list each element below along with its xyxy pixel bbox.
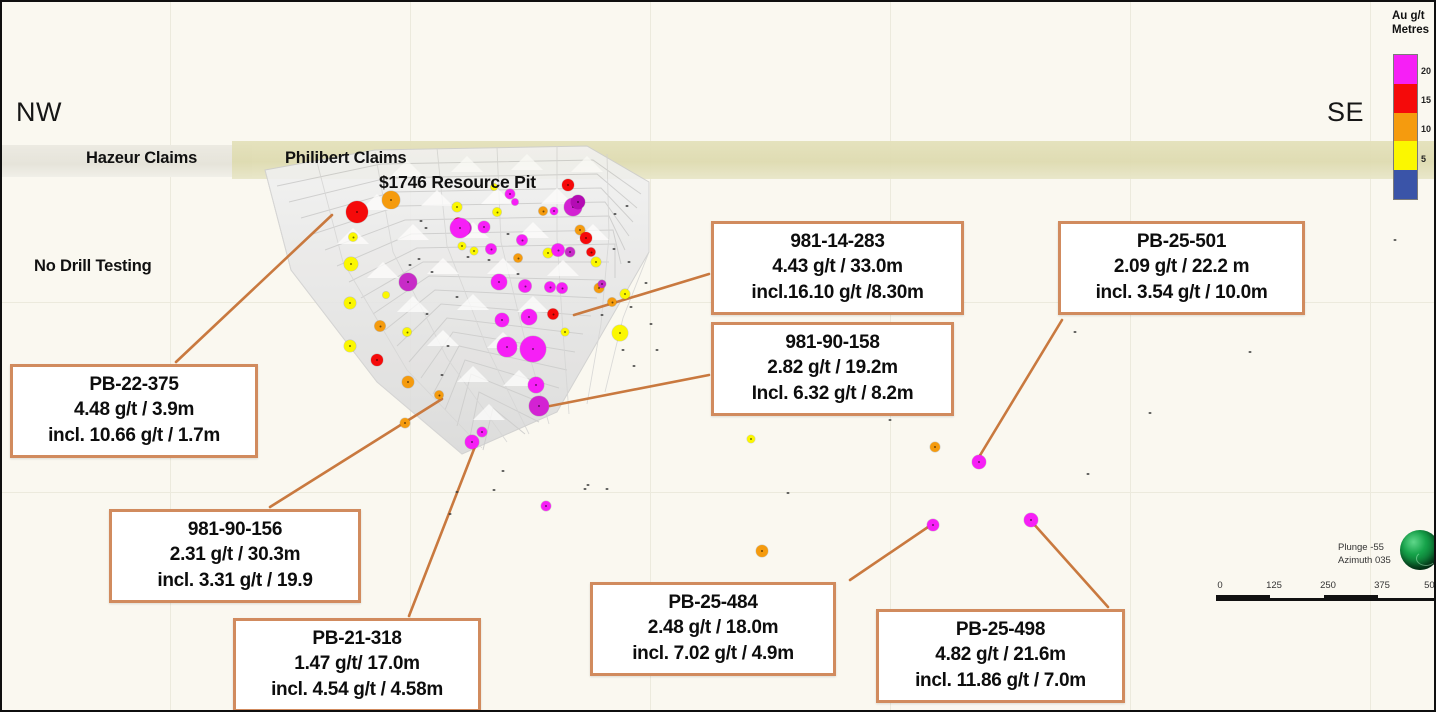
drill-intercept-dot [493,208,502,217]
legend-tick-20: 20 [1421,66,1431,76]
drill-intercept-dot [403,328,412,337]
label-hazeur-claims: Hazeur Claims [86,149,197,168]
callout-hole-id: PB-21-318 [248,626,466,651]
legend-tick-10: 10 [1421,124,1431,134]
structure-speck [426,313,429,315]
scale-label-375: 375 [1374,580,1390,591]
direction-label-nw: NW [16,97,62,128]
drill-intercept-dot [344,297,356,309]
callout-interval: 4.48 g/t / 3.9m [25,397,243,422]
drill-intercept-dot [565,247,575,257]
drill-intercept-dot [477,427,487,437]
structure-speck [606,488,609,490]
callout-hole-id: 981-90-158 [726,330,939,355]
structure-speck [613,248,616,250]
structure-speck [622,349,625,351]
legend-tick-15: 15 [1421,95,1431,105]
drill-intercept-dot [972,455,986,469]
structure-speck [889,419,892,421]
drill-intercept-dot [514,254,523,263]
scale-label-500: 500 [1424,580,1436,591]
drill-intercept-dot [344,257,358,271]
callout-hole-id: PB-22-375 [25,372,243,397]
structure-speck [502,470,505,472]
structure-speck [650,323,653,325]
drill-intercept-dot [591,257,601,267]
drill-intercept-dot [539,207,548,216]
legend-title: Au g/t Metres [1392,9,1429,37]
scale-label-125: 125 [1266,580,1282,591]
plunge-value: Plunge -55 [1338,542,1391,555]
drill-intercept-dot [383,292,390,299]
drill-intercept-dot [521,309,537,325]
callout-pb-25-501: PB-25-5012.09 g/t / 22.2 mincl. 3.54 g/t… [1058,221,1305,315]
callout-981-14-283: 981-14-2834.43 g/t / 33.0mincl.16.10 g/t… [711,221,964,315]
structure-speck [420,220,423,222]
legend-title-line1: Au g/t [1392,10,1425,22]
drill-intercept-dot [450,218,470,238]
callout-interval: 2.09 g/t / 22.2 m [1073,254,1290,279]
structure-speck [1394,239,1397,241]
structure-speck [787,492,790,494]
callout-981-90-158: 981-90-1582.82 g/t / 19.2mIncl. 6.32 g/t… [711,322,954,416]
callout-hole-id: PB-25-484 [605,590,821,615]
drill-intercept-dot [561,328,569,336]
callout-interval: 2.31 g/t / 30.3m [124,542,346,567]
structure-speck [1087,473,1090,475]
drill-intercept-dot [400,418,410,428]
legend-tick-5: 5 [1421,154,1426,164]
drill-intercept-dot [382,191,400,209]
drill-intercept-dot [349,233,358,242]
structure-speck [656,349,659,351]
drill-intercept-dot [346,201,368,223]
structure-speck [628,261,631,263]
drill-intercept-dot [491,274,507,290]
structure-speck [1074,331,1077,333]
scale-bar: 0 125 250 375 500 [1216,580,1436,604]
direction-label-se: SE [1327,97,1364,128]
structure-speck [418,258,421,260]
structure-speck [507,233,510,235]
azimuth-value: Azimuth 035 [1338,555,1391,568]
structure-speck [587,484,590,486]
legend-segment-5-10 [1394,141,1417,170]
callout-interval: 4.43 g/t / 33.0m [726,254,949,279]
callout-pb-22-375: PB-22-3754.48 g/t / 3.9mincl. 10.66 g/t … [10,364,258,458]
callout-hole-id: PB-25-498 [891,617,1110,642]
callout-pb-25-484: PB-25-4842.48 g/t / 18.0mincl. 7.02 g/t … [590,582,836,676]
callout-hole-id: 981-90-156 [124,517,346,542]
scale-bar-track [1216,595,1434,601]
drill-intercept-dot [399,273,417,291]
drill-intercept-dot [402,376,414,388]
drill-intercept-dot [371,354,383,366]
drill-intercept-dot [529,396,549,416]
structure-speck [1249,351,1252,353]
label-resource-pit: $1746 Resource Pit [379,172,536,193]
callout-pb-25-498: PB-25-4984.82 g/t / 21.6mincl. 11.86 g/t… [876,609,1125,703]
legend-title-line2: Metres [1392,24,1429,36]
callout-included-interval: incl. 10.66 g/t / 1.7m [25,423,243,448]
drill-intercept-dot [1024,513,1038,527]
drill-intercept-dot [452,202,462,212]
drill-intercept-dot [478,221,490,233]
callout-interval: 2.82 g/t / 19.2m [726,355,939,380]
drill-intercept-dot [545,282,556,293]
structure-speck [456,491,459,493]
structure-speck [645,282,648,284]
callout-included-interval: incl. 3.54 g/t / 10.0m [1073,280,1290,305]
drill-intercept-dot [520,336,546,362]
drill-intercept-dot [587,248,596,257]
callout-included-interval: incl. 4.54 g/t / 4.58m [248,677,466,702]
drill-intercept-dot [557,283,568,294]
legend-segment-10-15 [1394,113,1417,142]
drill-intercept-dot [580,232,592,244]
structure-speck [425,227,428,229]
legend-segment-below-5 [1394,170,1417,199]
callout-interval: 1.47 g/t/ 17.0m [248,651,466,676]
scale-label-250: 250 [1320,580,1336,591]
structure-speck [456,296,459,298]
callout-included-interval: Incl. 6.32 g/t / 8.2m [726,381,939,406]
drill-intercept-dot [495,313,509,327]
callout-included-interval: incl. 11.86 g/t / 7.0m [891,668,1110,693]
structure-speck [1149,412,1152,414]
drill-intercept-dot [486,244,497,255]
structure-speck [517,273,520,275]
callout-pb-21-318: PB-21-3181.47 g/t/ 17.0mincl. 4.54 g/t /… [233,618,481,712]
drill-intercept-dot [620,289,630,299]
orientation-readout: Plunge -55 Azimuth 035 [1338,542,1391,567]
legend-segment-15-20 [1394,84,1417,113]
structure-speck [467,256,470,258]
drill-intercept-dot [519,280,532,293]
structure-speck [409,264,412,266]
callout-hole-id: PB-25-501 [1073,229,1290,254]
drill-intercept-dot [517,235,528,246]
callout-interval: 4.82 g/t / 21.6m [891,642,1110,667]
callout-included-interval: incl. 3.31 g/t / 19.9 [124,568,346,593]
drill-intercept-dot [344,340,356,352]
callout-included-interval: incl. 7.02 g/t / 4.9m [605,641,821,666]
structure-speck [630,306,633,308]
label-philibert-claims: Philibert Claims [285,149,407,168]
drill-intercept-dot [552,244,565,257]
cross-section-figure: NW SE Hazeur Claims Philibert Claims $17… [0,0,1436,712]
drill-intercept-dot [375,321,386,332]
scale-label-0: 0 [1217,580,1222,591]
drill-intercept-dot [528,377,544,393]
structure-speck [449,513,452,515]
callout-included-interval: incl.16.10 g/t /8.30m [726,280,949,305]
drill-intercept-dot [435,391,444,400]
drill-intercept-dot [541,501,551,511]
structure-speck [488,259,491,261]
drill-intercept-dot [598,280,606,288]
drill-intercept-dot [571,195,585,209]
structure-speck [447,345,450,347]
drill-intercept-dot [465,435,479,449]
orientation-sphere-icon [1400,530,1436,570]
drill-intercept-dot [612,325,628,341]
legend-segment-above-20 [1394,55,1417,84]
callout-interval: 2.48 g/t / 18.0m [605,615,821,640]
drill-intercept-dot [608,298,617,307]
drill-intercept-dot [756,545,768,557]
structure-speck [441,374,444,376]
structure-speck [633,365,636,367]
structure-speck [493,489,496,491]
callout-hole-id: 981-14-283 [726,229,949,254]
drill-intercept-dot [497,337,517,357]
label-no-drill-testing: No Drill Testing [34,257,152,276]
structure-speck [614,213,617,215]
structure-speck [601,314,604,316]
drill-intercept-dot [927,519,939,531]
drill-intercept-dot [550,207,558,215]
drill-intercept-dot [470,247,478,255]
structure-speck [626,205,629,207]
drill-intercept-dot [562,179,574,191]
drill-intercept-dot [930,442,940,452]
structure-speck [431,271,434,273]
drill-intercept-dot [512,199,519,206]
legend-colour-bar [1393,54,1418,200]
drill-intercept-dot [747,435,755,443]
drill-intercept-dot [548,309,559,320]
callout-981-90-156: 981-90-1562.31 g/t / 30.3mincl. 3.31 g/t… [109,509,361,603]
colour-legend: Au g/t Metres 20 15 10 5 [1388,2,1434,214]
drill-intercept-dot [458,242,466,250]
structure-speck [584,488,587,490]
